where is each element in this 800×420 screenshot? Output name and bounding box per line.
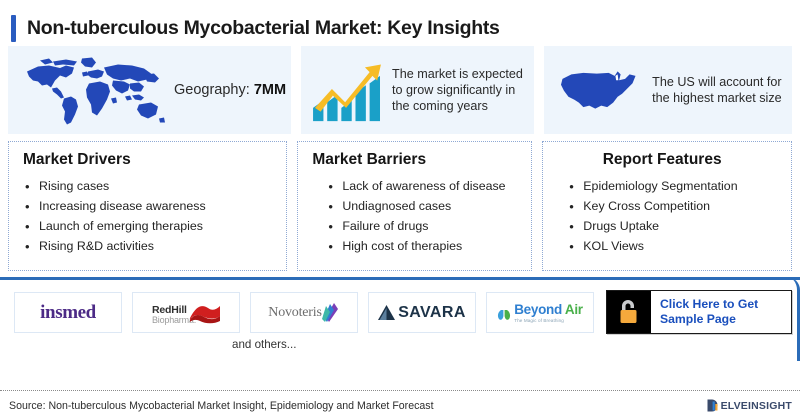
partner-logo-novoteris: Novoteris <box>250 292 358 333</box>
page-header: Non-tuberculous Mycobacterial Market: Ke… <box>0 0 800 46</box>
delveinsight-mark-icon <box>707 399 719 412</box>
cta-line-1: Click Here to Get <box>660 297 758 311</box>
card-market-drivers: Market Drivers Rising cases Increasing d… <box>8 141 287 271</box>
card-title-market-barriers: Market Barriers <box>312 151 525 169</box>
partner-logo-insmed: insmed <box>14 292 122 333</box>
redhill-name: RedHill <box>152 304 187 316</box>
growth-chart-icon <box>311 57 383 123</box>
beyondair-subtitle: The Magic of Breathing <box>514 319 583 324</box>
list-item: Epidemiology Segmentation <box>567 176 785 196</box>
get-sample-page-button[interactable]: Click Here to Get Sample Page <box>606 290 792 334</box>
unlock-padlock-icon <box>617 298 641 326</box>
cta-icon-container <box>607 291 651 333</box>
list-item: Increasing disease awareness <box>23 196 280 216</box>
world-map-icon <box>18 52 168 128</box>
novoteris-feather-icon <box>320 302 340 324</box>
list-item: Drugs Uptake <box>567 216 785 236</box>
geography-label: Geography: 7MM <box>174 81 286 100</box>
list-item: Undiagnosed cases <box>326 196 525 216</box>
page-footer: Source: Non-tuberculous Mycobacterial Ma… <box>0 390 800 420</box>
beyondair-name-part1: Beyond <box>514 302 565 317</box>
geography-value: 7MM <box>254 82 286 98</box>
savara-wordmark: SAVARA <box>398 304 466 322</box>
partner-panel: insmed RedHill Biopharma. Novoteris <box>0 277 800 361</box>
card-report-features: Report Features Epidemiology Segmentatio… <box>542 141 792 271</box>
stat-box-us-market: The US will account for the highest mark… <box>544 46 792 134</box>
card-title-report-features: Report Features <box>553 151 785 169</box>
delveinsight-logo: ELVEINSIGHT <box>707 399 792 412</box>
stat-strip: Geography: 7MM The market is expected to… <box>0 46 800 134</box>
geography-label-text: Geography: <box>174 82 254 98</box>
partner-logo-redhill: RedHill Biopharma. <box>132 292 240 333</box>
list-item: Launch of emerging therapies <box>23 216 280 236</box>
beyondair-name: Beyond Air <box>514 302 583 317</box>
delveinsight-wordmark: ELVEINSIGHT <box>721 400 792 412</box>
us-map-icon <box>558 62 640 118</box>
us-market-text: The US will account for the highest mark… <box>652 74 784 106</box>
card-title-market-drivers: Market Drivers <box>23 151 280 169</box>
cta-label: Click Here to Get Sample Page <box>651 291 791 333</box>
stat-box-market-growth: The market is expected to grow significa… <box>301 46 534 134</box>
novoteris-wordmark: Novoteris <box>268 305 321 321</box>
stat-box-geography: Geography: 7MM <box>8 46 291 134</box>
list-item: Rising cases <box>23 176 280 196</box>
partner-logo-savara: SAVARA <box>368 292 476 333</box>
market-growth-text: The market is expected to grow significa… <box>392 66 526 114</box>
list-item: Key Cross Competition <box>567 196 785 216</box>
list-item: High cost of therapies <box>326 236 525 256</box>
list-item: Lack of awareness of disease <box>326 176 525 196</box>
detail-cards: Market Drivers Rising cases Increasing d… <box>0 134 800 271</box>
beyondair-lungs-icon <box>497 305 512 321</box>
report-features-list: Epidemiology Segmentation Key Cross Comp… <box>553 176 785 256</box>
list-item: Failure of drugs <box>326 216 525 236</box>
redhill-wave-icon <box>190 302 220 324</box>
beyondair-name-part2: Air <box>565 302 583 317</box>
list-item: Rising R&D activities <box>23 236 280 256</box>
insmed-wordmark: insmed <box>40 302 96 324</box>
partner-logo-grid: insmed RedHill Biopharma. Novoteris <box>0 280 594 333</box>
partner-logo-beyondair: Beyond Air The Magic of Breathing <box>486 292 594 333</box>
and-others-text: and others... <box>232 338 296 351</box>
market-barriers-list: Lack of awareness of disease Undiagnosed… <box>312 176 525 256</box>
title-accent-bar <box>11 15 16 42</box>
card-market-barriers: Market Barriers Lack of awareness of dis… <box>297 141 532 271</box>
cta-line-2: Sample Page <box>660 312 736 326</box>
savara-triangle-icon <box>378 305 395 321</box>
source-text: Source: Non-tuberculous Mycobacterial Ma… <box>9 400 434 412</box>
beyondair-wordmark: Beyond Air The Magic of Breathing <box>514 302 583 324</box>
list-item: KOL Views <box>567 236 785 256</box>
market-drivers-list: Rising cases Increasing disease awarenes… <box>23 176 280 256</box>
page-title: Non-tuberculous Mycobacterial Market: Ke… <box>27 17 500 40</box>
